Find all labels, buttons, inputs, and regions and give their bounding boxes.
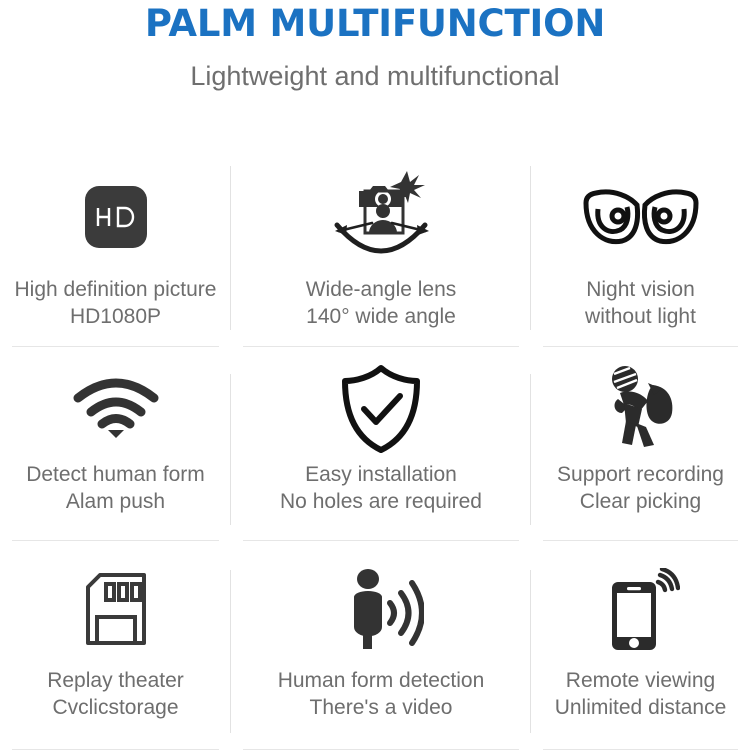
feature-line-2: Alam push: [26, 488, 205, 515]
page-title: PALM MULTIFUNCTION: [0, 2, 750, 46]
feature-line-1: Easy installation: [305, 463, 457, 486]
feature-line-2: Cvclicstorage: [47, 694, 184, 721]
feature-cell-night-vision: Night vision without light: [531, 136, 750, 347]
icon-container: [338, 347, 424, 461]
feature-line-1: Support recording: [557, 463, 724, 486]
feature-caption: Detect human form Alam push: [26, 461, 205, 515]
feature-line-2: HD1080P: [15, 303, 217, 330]
feature-grid: High definition picture HD1080P: [0, 136, 750, 750]
feature-caption: Remote viewing Unlimited distance: [555, 667, 727, 721]
feature-cell-replay-theater: Replay theater Cvclicstorage: [0, 541, 231, 750]
feature-caption: Easy installation No holes are required: [280, 461, 482, 515]
feature-caption: Night vision without light: [585, 276, 696, 330]
feature-line-2: No holes are required: [280, 488, 482, 515]
feature-line-1: Replay theater: [47, 669, 184, 692]
feature-caption: High definition picture HD1080P: [15, 276, 217, 330]
icon-container: [85, 136, 147, 276]
feature-line-2: Clear picking: [557, 488, 724, 515]
icon-container: [602, 541, 680, 667]
feature-line-2: without light: [585, 303, 696, 330]
night-vision-eyes-icon: [582, 183, 700, 251]
icon-container: [582, 136, 700, 276]
feature-caption: Replay theater Cvclicstorage: [47, 667, 184, 721]
feature-line-1: High definition picture: [15, 278, 217, 301]
feature-line-2: There's a video: [278, 694, 485, 721]
smartphone-wifi-icon: [602, 568, 680, 654]
shield-check-icon: [338, 363, 424, 455]
feature-line-1: Night vision: [586, 278, 695, 301]
burglar-with-sack-icon: [598, 365, 684, 453]
feature-line-1: Human form detection: [278, 669, 485, 692]
feature-line-1: Detect human form: [26, 463, 205, 486]
icon-container: [78, 541, 154, 667]
feature-cell-easy-installation: Easy installation No holes are required: [231, 347, 531, 541]
icon-container: [315, 136, 447, 276]
header-block: PALM MULTIFUNCTION Lightweight and multi…: [0, 0, 750, 93]
hd-badge-icon: [85, 186, 147, 248]
icon-container: [598, 347, 684, 461]
icon-container: [70, 347, 162, 461]
feature-cell-remote-viewing: Remote viewing Unlimited distance: [531, 541, 750, 750]
feature-line-2: 140° wide angle: [306, 303, 457, 330]
feature-line-1: Wide-angle lens: [306, 278, 457, 301]
feature-cell-wide-angle-lens: Wide-angle lens 140° wide angle: [231, 136, 531, 347]
feature-line-2: Unlimited distance: [555, 694, 727, 721]
feature-cell-high-definition-picture: High definition picture HD1080P: [0, 136, 231, 347]
feature-cell-detect-human-form: Detect human form Alam push: [0, 347, 231, 541]
wide-angle-camera-icon: [315, 169, 447, 265]
icon-container: [338, 541, 424, 667]
page-subtitle: Lightweight and multifunctional: [0, 59, 750, 93]
sd-memory-card-icon: [78, 571, 154, 651]
wifi-signal-icon: [70, 376, 162, 442]
feature-line-1: Remote viewing: [566, 669, 715, 692]
feature-cell-human-form-detection: Human form detection There's a video: [231, 541, 531, 750]
feature-caption: Support recording Clear picking: [557, 461, 724, 515]
feature-caption: Wide-angle lens 140° wide angle: [306, 276, 457, 330]
person-motion-waves-icon: [338, 569, 424, 653]
feature-cell-support-recording: Support recording Clear picking: [531, 347, 750, 541]
feature-caption: Human form detection There's a video: [278, 667, 485, 721]
